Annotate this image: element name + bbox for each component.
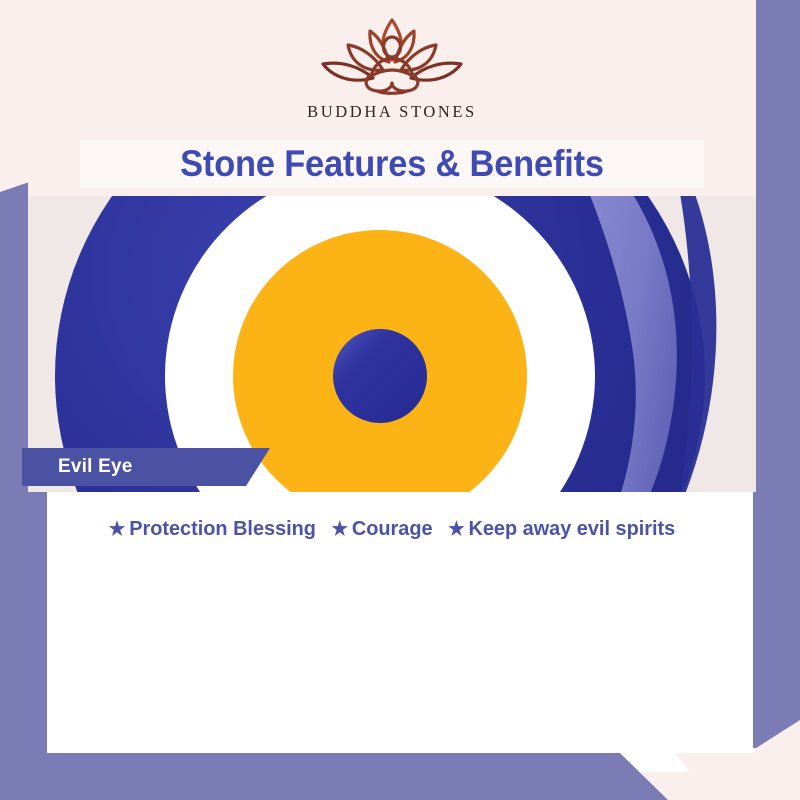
page-title: Stone Features & Benefits (102, 140, 682, 188)
feature-label-keep-away-evil-spirits: Keep away evil spirits (468, 517, 675, 541)
evil-eye-illustration (28, 196, 756, 492)
star-icon: ★ (331, 520, 348, 539)
header-section: BUDDHA STONES Stone Features & Benefits (28, 0, 756, 196)
hero-image (28, 196, 756, 492)
star-icon: ★ (448, 520, 465, 539)
lotus-meditation-icon (307, 14, 477, 100)
features-section: ★ Protection Blessing ★ Courage ★ Keep a… (28, 492, 756, 541)
feature-label-courage: Courage (352, 517, 433, 541)
frame-right-band (753, 0, 800, 748)
feature-item-protection: ★ Protection Blessing (109, 517, 316, 541)
feature-item-courage: ★ Courage (331, 517, 432, 541)
star-icon: ★ (109, 520, 126, 539)
feature-item-keep-away-evil-spirits: ★ Keep away evil spirits (448, 517, 675, 541)
brand-name: BUDDHA STONES (28, 102, 756, 122)
feature-row: ★ Protection Blessing ★ Courage ★ Keep a… (39, 492, 745, 541)
brand-logo: BUDDHA STONES (28, 14, 756, 122)
feature-label-protection: Protection Blessing (129, 517, 316, 541)
infographic-canvas: BUDDHA STONES Stone Features & Benefits (0, 0, 800, 800)
stone-name-label: Evil Eye (58, 448, 132, 486)
